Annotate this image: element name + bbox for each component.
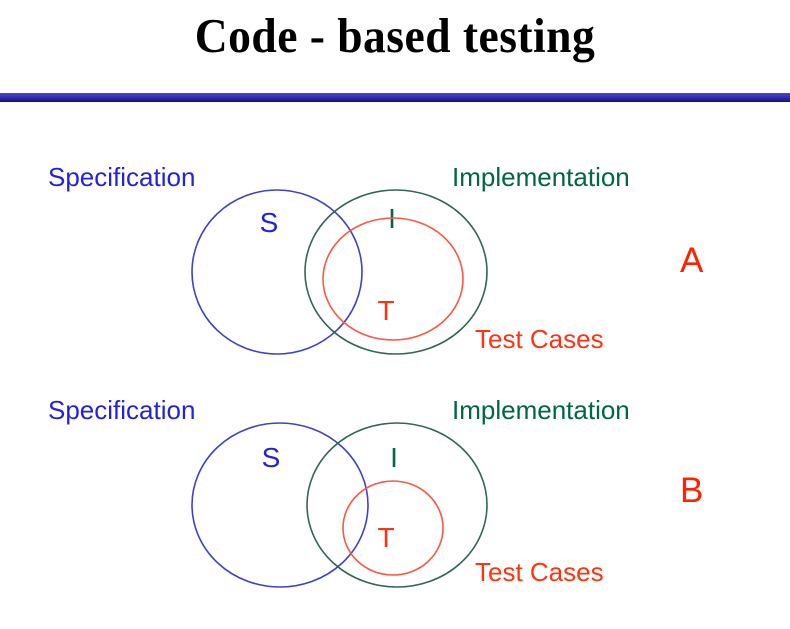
venn-circle-implementation-b: I (307, 423, 487, 587)
caption-implementation-a: Implementation (452, 162, 630, 192)
caption-specification-a: Specification (48, 162, 195, 192)
venn-circle-implementation-a: I (305, 190, 487, 354)
set-letter-s-a: S (260, 207, 279, 238)
venn-circle-test-cases-a: T (323, 218, 463, 340)
diagram-tag-b: B (680, 471, 703, 510)
set-letter-t-a: T (377, 295, 394, 326)
set-letter-t-b: T (377, 522, 394, 553)
venn-circle-test-cases-b: T (343, 481, 443, 575)
venn-circle-specification-b: S (192, 423, 368, 587)
diagram-tag-a: A (680, 241, 704, 280)
set-letter-i-b: I (390, 442, 398, 473)
venn-diagram-a: SITSpecificationImplementationTest Cases… (0, 140, 790, 370)
caption-test-cases-b: Test Cases (475, 557, 604, 587)
caption-implementation-b: Implementation (452, 395, 630, 425)
set-letter-s-b: S (262, 442, 281, 473)
title-divider (0, 93, 790, 102)
caption-specification-b: Specification (48, 395, 195, 425)
caption-test-cases-a: Test Cases (475, 324, 604, 354)
page-title: Code - based testing (28, 8, 763, 64)
venn-diagram-b: SITSpecificationImplementationTest Cases… (0, 375, 790, 610)
slide: Code - based testing SITSpecificationImp… (0, 0, 790, 629)
venn-circle-specification-a: S (192, 190, 362, 354)
